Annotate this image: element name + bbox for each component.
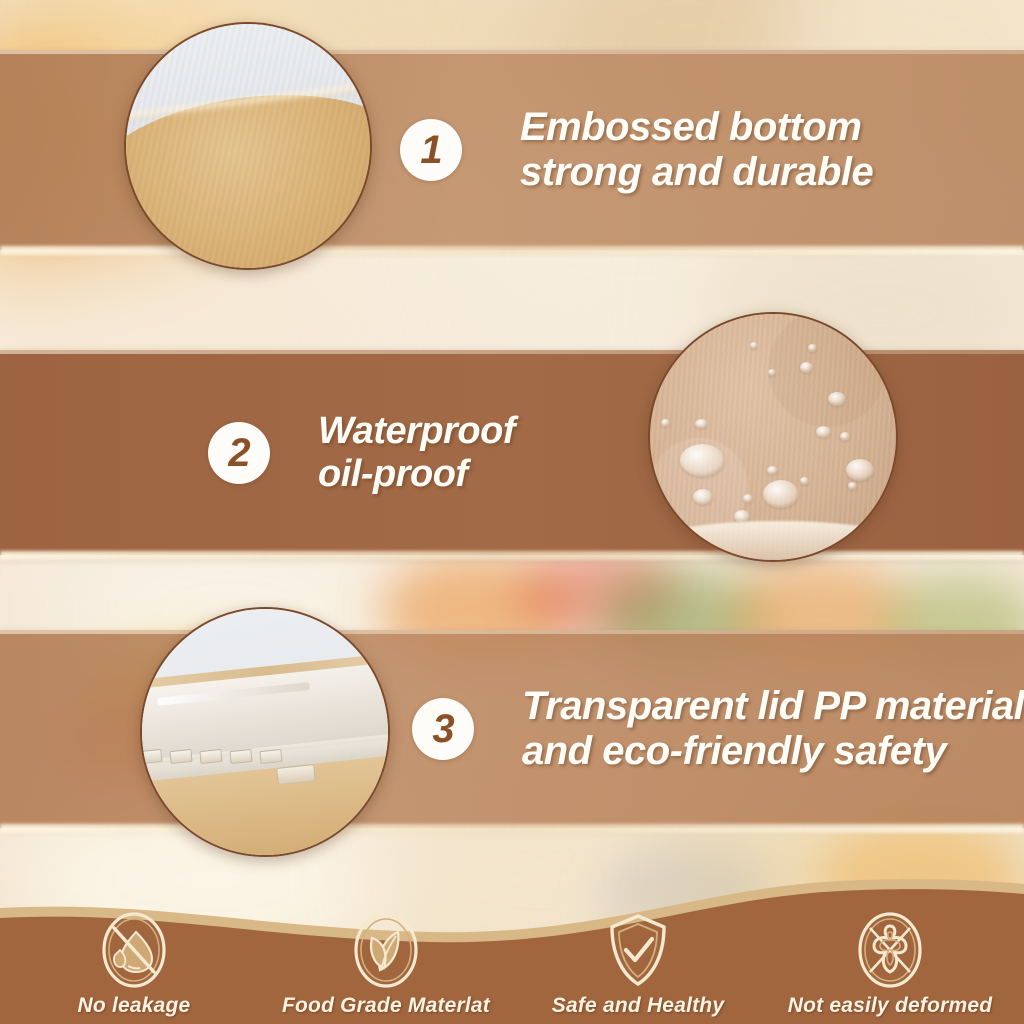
shield-check-icon <box>602 910 674 990</box>
footer-badge-safe-healthy: Safe and Healthy <box>516 910 760 1018</box>
footer-badge-not-deformed: Not easily deformed <box>768 910 1012 1018</box>
embossed-kraft-bottom-photo <box>124 22 372 270</box>
container-with-transparent-lid-photo <box>140 607 390 857</box>
feature-3-line-1: Transparent lid PP material <box>522 684 1024 729</box>
feature-text-1: Embossed bottom strong and durable <box>520 105 873 195</box>
poster-canvas: 1 Embossed bottom strong and durable 2 W… <box>0 0 1024 1024</box>
feature-text-2: Waterproof oil-proof <box>318 410 515 496</box>
no-deform-icon <box>854 910 926 990</box>
footer-badge-row: No leakage Food Grade Materlat <box>0 889 1024 1024</box>
feature-1-line-1: Embossed bottom <box>520 105 873 150</box>
footer-badge-label: No leakage <box>78 994 191 1018</box>
footer-badge-label: Food Grade Materlat <box>282 994 490 1018</box>
feature-2-line-1: Waterproof <box>318 410 515 453</box>
feature-3-line-2: and eco-friendly safety <box>522 729 1024 774</box>
footer-badge-no-leakage: No leakage <box>12 910 256 1018</box>
footer-badge-label: Not easily deformed <box>788 994 993 1018</box>
feature-2-line-2: oil-proof <box>318 453 515 496</box>
footer-badge-food-grade: Food Grade Materlat <box>264 910 508 1018</box>
feature-1-line-2: strong and durable <box>520 150 873 195</box>
footer-badge-label: Safe and Healthy <box>552 994 724 1018</box>
no-leakage-icon <box>98 910 170 990</box>
feature-number-2: 2 <box>208 422 270 484</box>
feature-number-1: 1 <box>400 119 462 181</box>
feature-number-3: 3 <box>412 698 474 760</box>
leaf-icon <box>350 910 422 990</box>
water-droplets-on-kraft-photo <box>648 312 898 562</box>
feature-text-3: Transparent lid PP material and eco-frie… <box>522 684 1024 774</box>
footer-banner: No leakage Food Grade Materlat <box>0 864 1024 1024</box>
